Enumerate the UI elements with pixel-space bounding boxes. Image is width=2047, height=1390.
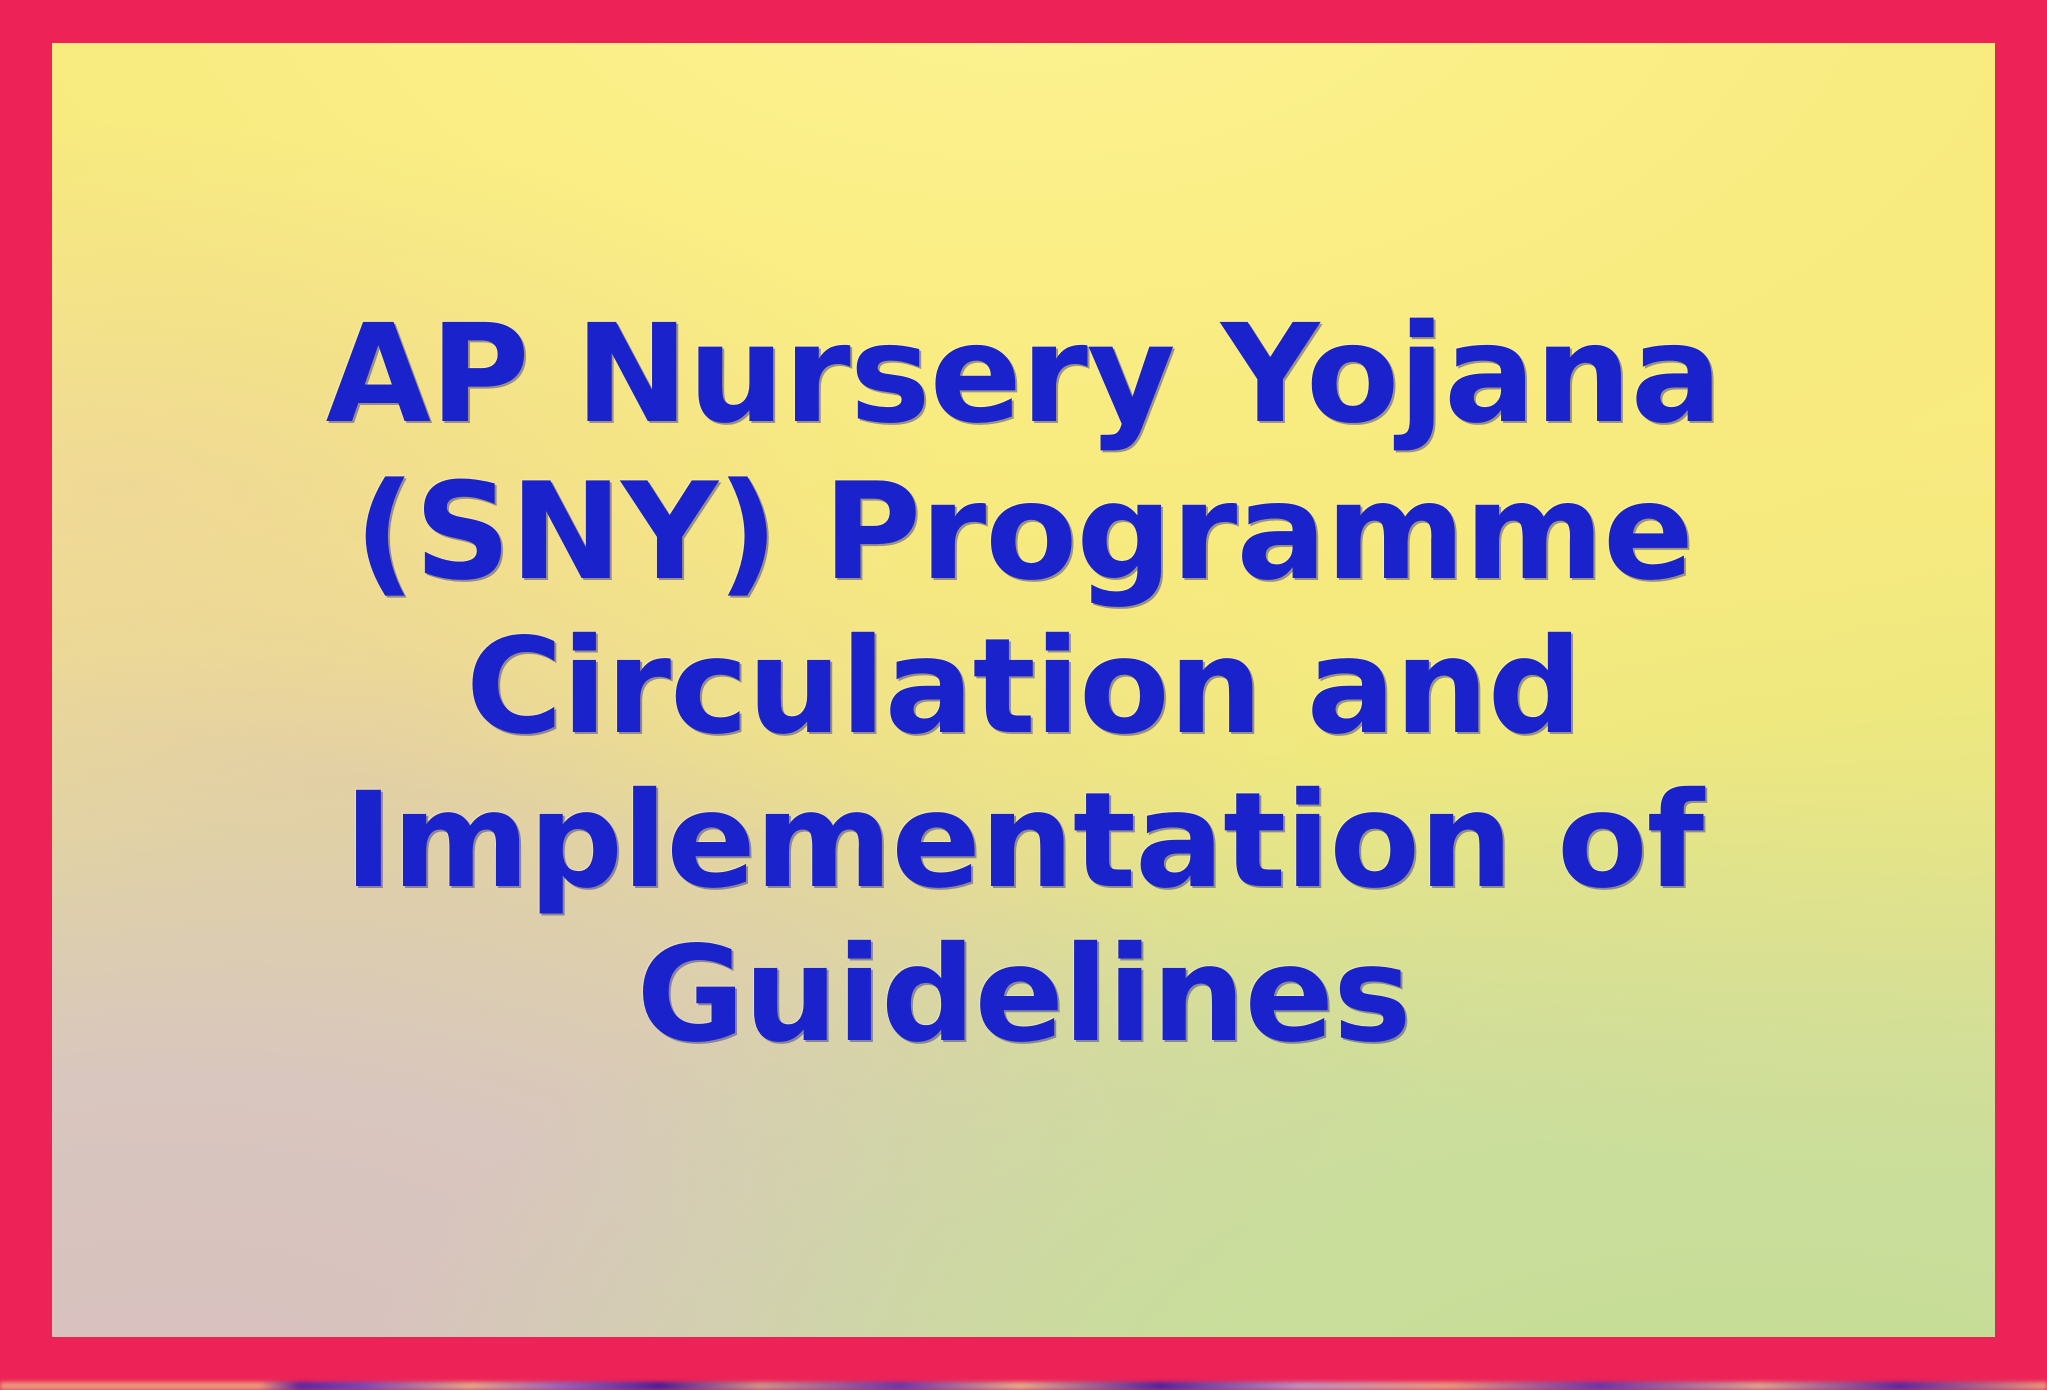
banner-content-panel: AP Nursery Yojana (SNY) Programme Circul… bbox=[52, 43, 1995, 1337]
headline-line-4: Implementation of bbox=[82, 764, 1965, 918]
headline-line-5: Guidelines bbox=[82, 918, 1965, 1072]
headline-line-2: (SNY) Programme bbox=[82, 454, 1965, 610]
headline-line-1: AP Nursery Yojana bbox=[82, 296, 1965, 454]
bottom-edge-sliver bbox=[0, 1382, 2047, 1390]
headline-block: AP Nursery Yojana (SNY) Programme Circul… bbox=[52, 43, 1995, 1337]
headline-line-3: Circulation and bbox=[82, 610, 1965, 764]
promo-banner: AP Nursery Yojana (SNY) Programme Circul… bbox=[0, 0, 2047, 1390]
